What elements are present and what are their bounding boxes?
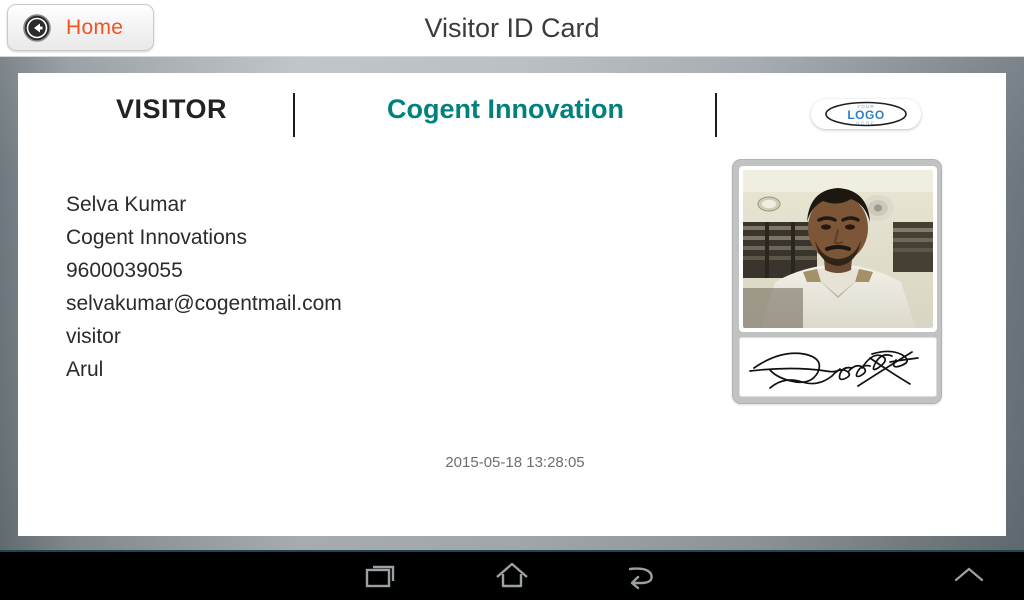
detail-email: selvakumar@cogentmail.com: [66, 287, 342, 320]
visitor-signature-frame: [739, 337, 937, 397]
svg-text:HERE: HERE: [856, 121, 876, 126]
detail-host: Arul: [66, 353, 342, 386]
detail-organization: Cogent Innovations: [66, 221, 342, 254]
company-name-label: Cogent Innovation: [387, 94, 624, 125]
visitor-photo-frame: [739, 166, 937, 332]
nav-home-button[interactable]: [467, 552, 557, 600]
page-title: Visitor ID Card: [0, 0, 1024, 57]
visitor-photo: [743, 170, 933, 328]
visitor-id-card-screen: Home Visitor ID Card VISITOR Cogent Inno…: [0, 0, 1024, 600]
header-divider-left: [293, 93, 295, 137]
recents-icon: [365, 560, 399, 595]
nav-recents-button[interactable]: [337, 552, 427, 600]
visitor-details: Selva Kumar Cogent Innovations 960003905…: [66, 188, 342, 386]
id-card: VISITOR Cogent Innovation YOUR LOGO HERE: [18, 73, 1006, 536]
nav-expand-button[interactable]: [939, 552, 999, 600]
detail-phone: 9600039055: [66, 254, 342, 287]
chevron-up-icon: [952, 563, 986, 592]
visitor-signature: [740, 338, 936, 396]
photo-signature-panel: [732, 159, 942, 404]
header-divider-right: [715, 93, 717, 137]
android-navigation-bar: [0, 550, 1024, 600]
app-header: Home Visitor ID Card: [0, 0, 1024, 57]
detail-purpose: visitor: [66, 320, 342, 353]
company-logo-placeholder: YOUR LOGO HERE: [811, 99, 921, 129]
visitor-type-label: VISITOR: [116, 94, 227, 125]
id-card-header-row: VISITOR Cogent Innovation YOUR LOGO HERE: [21, 76, 1003, 146]
id-card-body: VISITOR Cogent Innovation YOUR LOGO HERE: [21, 76, 1003, 533]
detail-name: Selva Kumar: [66, 188, 342, 221]
visit-timestamp: 2015-05-18 13:28:05: [21, 454, 1009, 471]
nav-back-button[interactable]: [597, 552, 687, 600]
home-icon: [494, 560, 530, 595]
back-icon: [625, 560, 659, 595]
